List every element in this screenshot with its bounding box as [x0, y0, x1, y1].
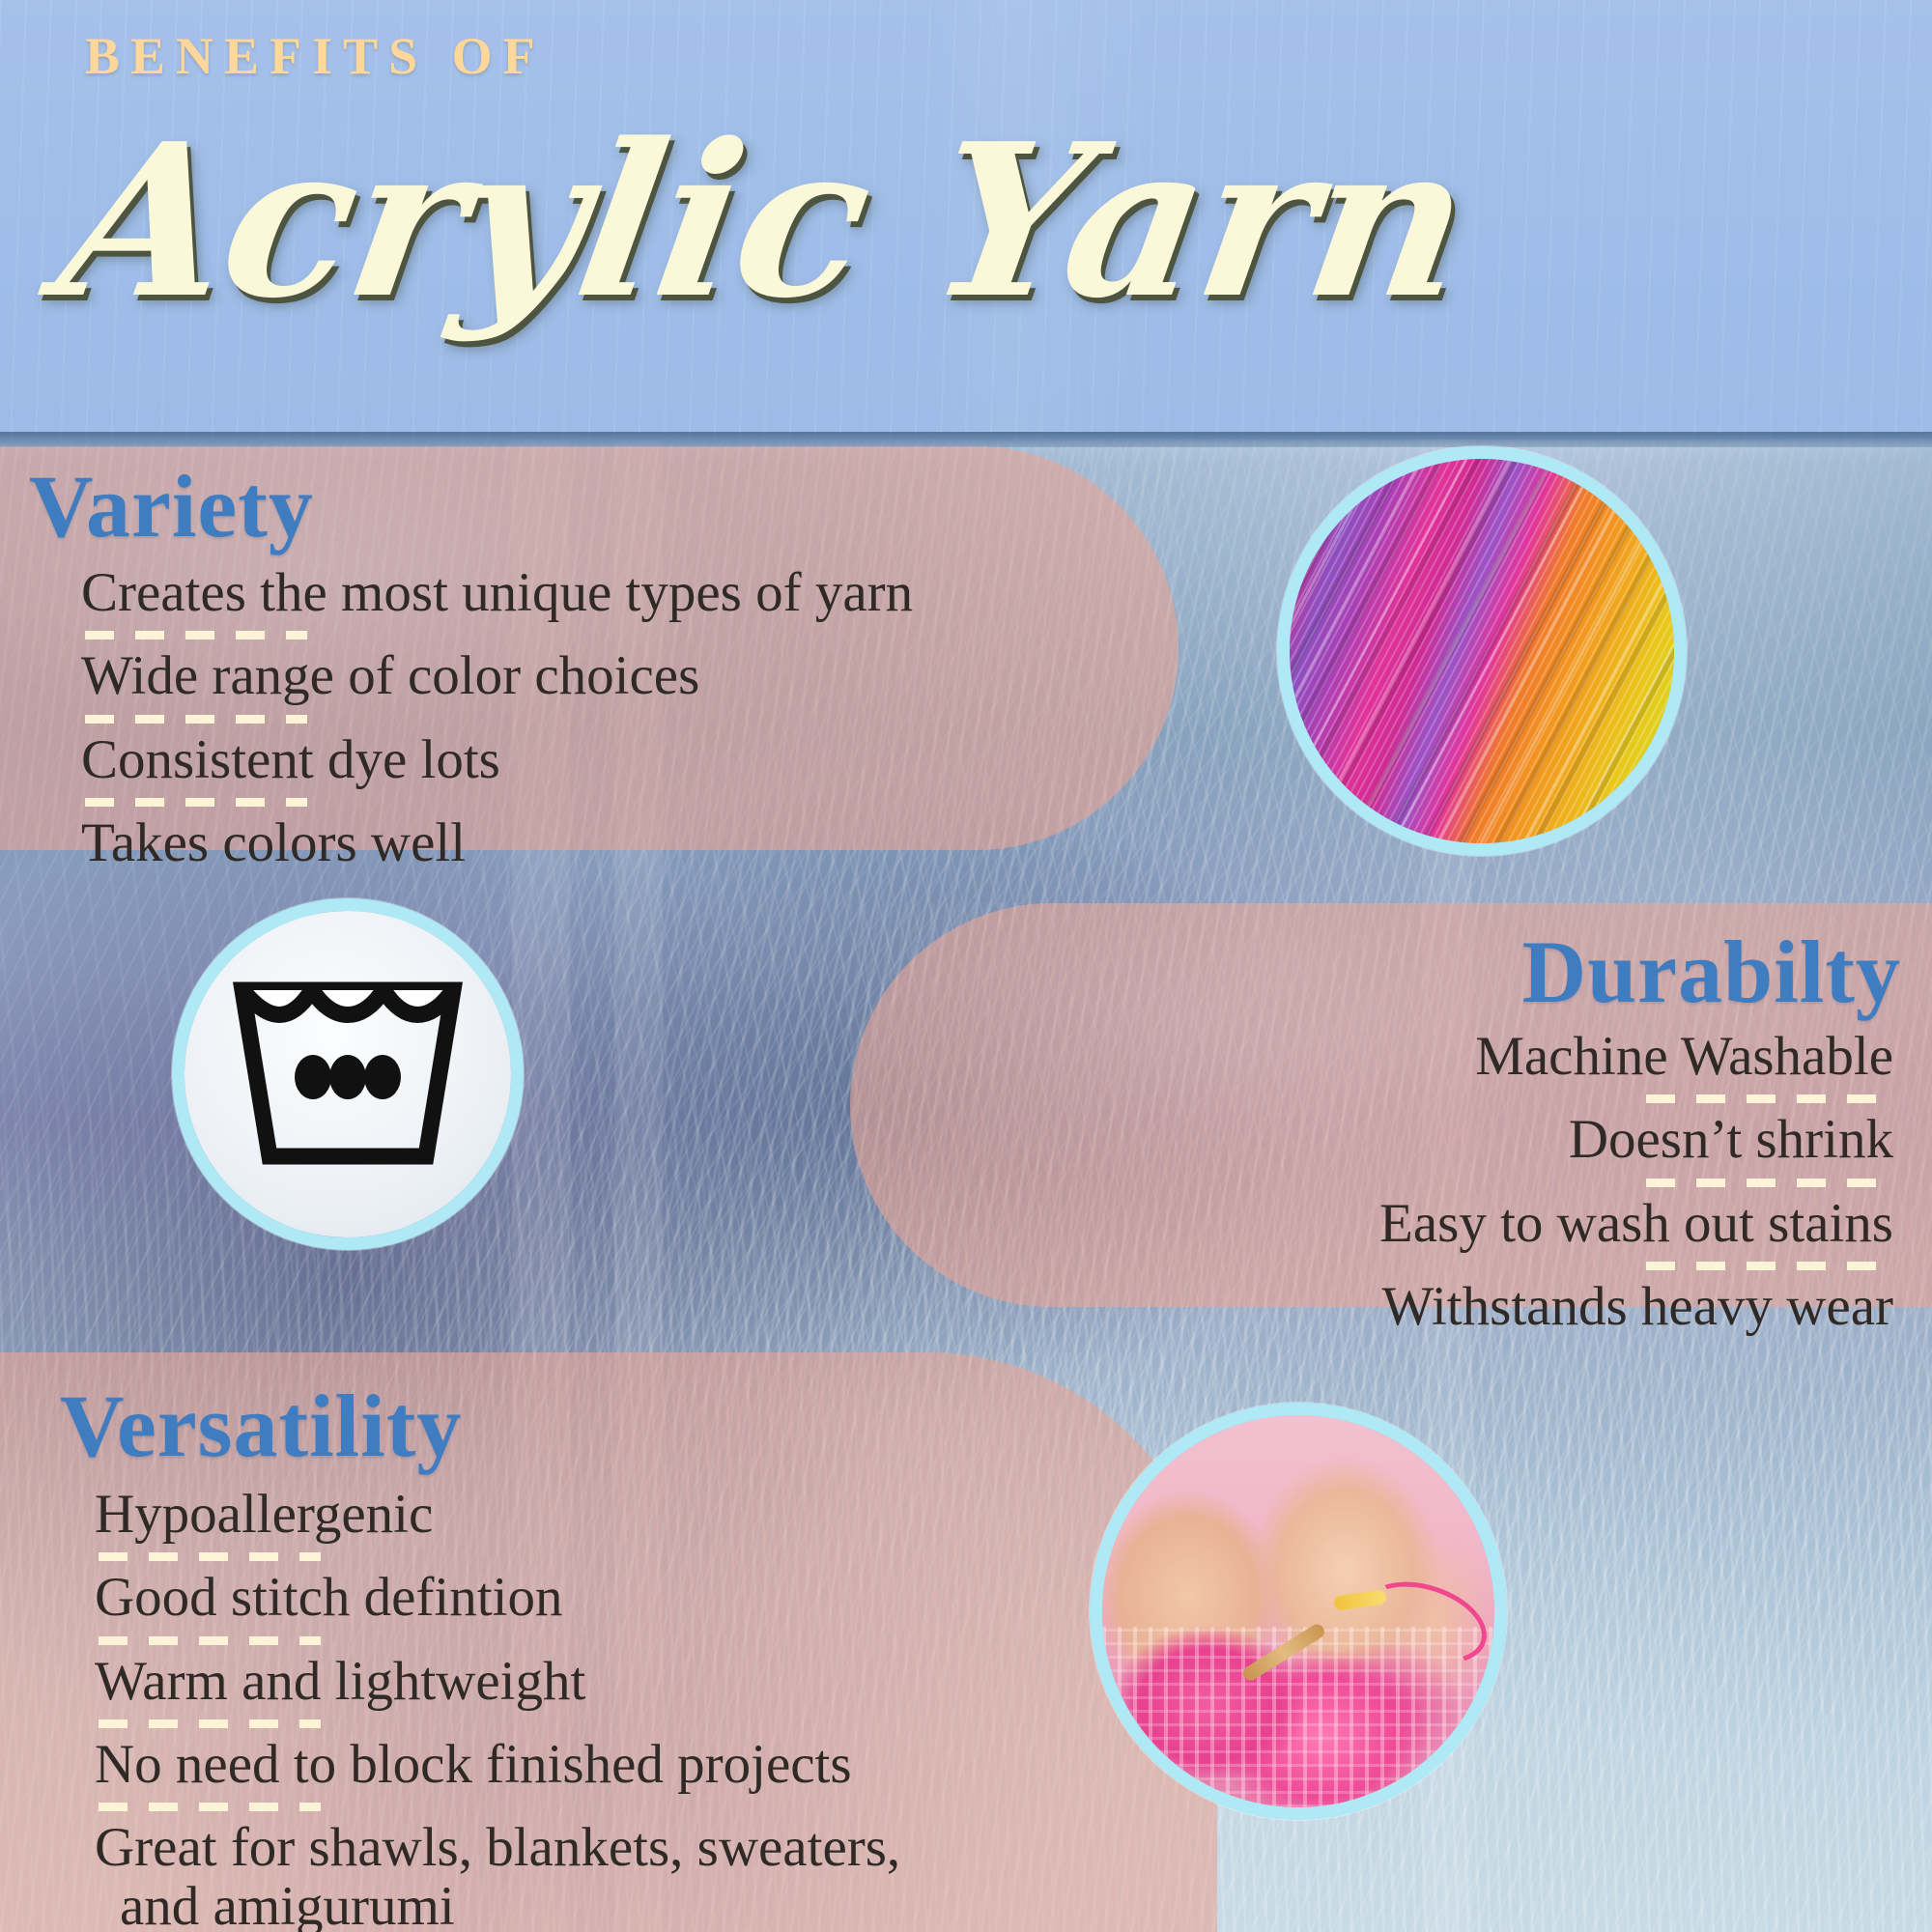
page-title: Acrylic Yarn: [49, 116, 1480, 327]
list-item: Doesn’t shrink: [1379, 1111, 1893, 1169]
section-versatility-list: Hypoallergenic Good stitch defintion War…: [95, 1486, 900, 1932]
header-band-edge: [0, 432, 1932, 447]
hands-knitting-photo: [1090, 1403, 1507, 1820]
wash-tub-glyph: [227, 973, 469, 1176]
machine-wash-tub-icon: [172, 898, 524, 1250]
infographic-poster: BENEFITS OF Acrylic Yarn Variety: [0, 0, 1932, 1932]
item-divider: [85, 715, 307, 724]
list-item-multiline: Great for shawls, blankets, sweaters, an…: [95, 1819, 900, 1932]
list-item: Machine Washable: [1379, 1028, 1893, 1086]
item-divider: [99, 1803, 321, 1811]
item-divider: [1646, 1094, 1888, 1103]
section-variety-title: Variety: [29, 462, 913, 553]
list-item: Takes colors well: [81, 814, 913, 872]
section-durability-title: Durabilty: [1379, 927, 1901, 1018]
section-versatility: Versatility Hypoallergenic Good stitch d…: [39, 1381, 900, 1932]
list-item-line-1: Great for shawls, blankets, sweaters,: [95, 1817, 900, 1878]
item-divider: [99, 1636, 321, 1645]
section-versatility-title: Versatility: [60, 1381, 900, 1472]
yarn-photo-strands: [1290, 459, 1674, 843]
list-item: Creates the most unique types of yarn: [81, 564, 913, 622]
section-variety-list: Creates the most unique types of yarn Wi…: [81, 564, 913, 873]
section-durability: Durabilty Machine Washable Doesn’t shrin…: [1379, 927, 1907, 1336]
item-divider: [99, 1552, 321, 1561]
item-divider: [1646, 1262, 1888, 1270]
list-item: Warm and lightweight: [95, 1653, 900, 1711]
section-variety: Variety Creates the most unique types of…: [25, 462, 913, 872]
rainbow-yarn-skein-photo: [1277, 446, 1687, 856]
item-divider: [85, 631, 307, 639]
list-item: Hypoallergenic: [95, 1486, 900, 1544]
item-divider: [85, 798, 307, 807]
list-item-line-2: and amigurumi: [95, 1878, 900, 1932]
list-item: Consistent dye lots: [81, 731, 913, 789]
list-item: No need to block finished projects: [95, 1736, 900, 1794]
list-item: Good stitch defintion: [95, 1569, 900, 1627]
item-divider: [99, 1719, 321, 1728]
section-durability-list: Machine Washable Doesn’t shrink Easy to …: [1379, 1028, 1893, 1337]
list-item: Easy to wash out stains: [1379, 1195, 1893, 1253]
item-divider: [1646, 1179, 1888, 1187]
list-item: Wide range of color choices: [81, 647, 913, 705]
list-item: Withstands heavy wear: [1379, 1278, 1893, 1336]
kicker-text: BENEFITS OF: [85, 26, 546, 86]
